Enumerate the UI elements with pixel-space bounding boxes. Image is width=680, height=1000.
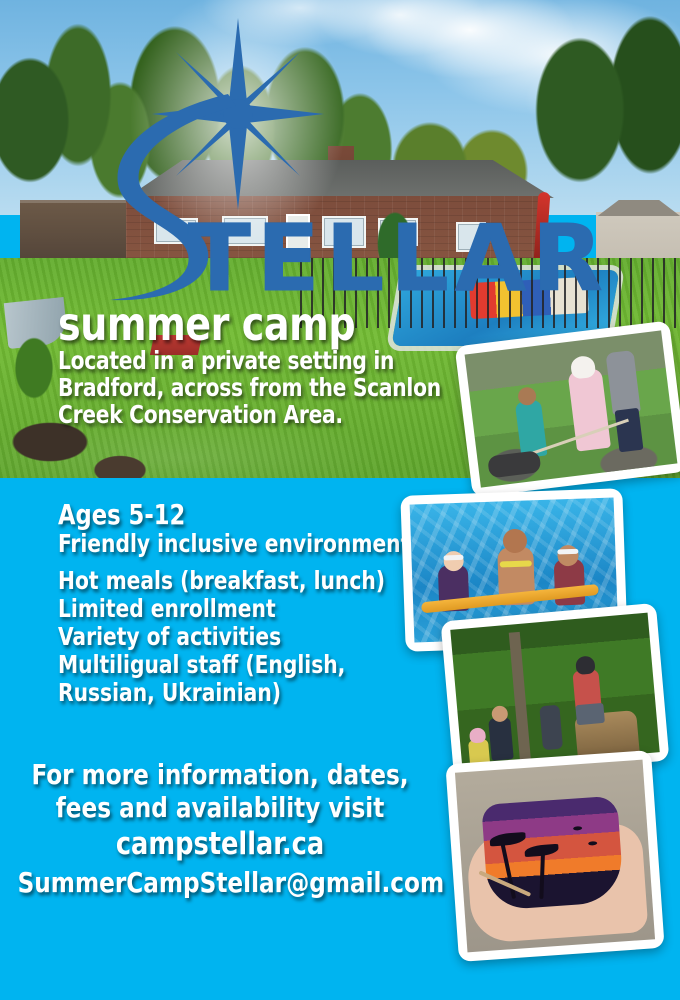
child-shorts [575,703,605,725]
child-hat [469,727,486,743]
location-line: Bradford, across from the Scanlon [58,374,490,401]
forest-photo-image [450,613,659,770]
feature-item: Limited enrollment [58,595,410,623]
child-legs [615,408,644,453]
location-line: Creek Conservation Area. [58,401,490,428]
feature-highlight: Friendly inclusive environment [58,530,410,558]
bird-silhouette [573,826,582,831]
swim-vest [500,560,532,567]
fire-pit-stones [487,450,541,478]
cta-line: fees and availability visit [18,791,423,824]
goggles-icon [443,555,463,561]
location-line: Located in a private setting in [58,347,490,374]
bird-silhouette [588,841,597,846]
campfire-photo-image [465,330,678,487]
contact-block: For more information, dates, fees and av… [0,758,440,902]
feature-item: Multiligual staff (English, [58,651,410,679]
summer-camp-flyer: TELLAR summer camp Located in a private … [0,0,680,1000]
location-description: Located in a private setting in Bradford… [58,347,490,428]
features-list: Ages 5-12 Friendly inclusive environment… [58,500,449,707]
child-figure [539,705,563,751]
painted-rock [481,796,624,911]
goggles-icon [557,549,578,555]
stellar-logo: TELLAR [0,0,680,340]
palm-trunk [539,849,545,899]
painted-rock-photo-image [455,760,655,953]
child-figure [605,350,640,415]
feature-item: Russian, Ukrainian) [58,679,410,707]
child-cap [575,655,595,675]
ages-label: Ages 5-12 [58,500,410,530]
website-link[interactable]: campstellar.ca [18,824,423,864]
wordmark-tellar: TELLAR [188,213,609,305]
email-link[interactable]: SummerCampStellar@gmail.com [18,864,423,902]
palm-fronds [489,832,526,846]
feature-item: Hot meals (breakfast, lunch) [58,567,410,595]
campfire-photo [455,320,680,497]
child-figure [488,717,514,761]
palm-fronds [524,844,559,857]
feature-item: Variety of activities [58,623,410,651]
painted-rock-photo [445,750,664,962]
page-title: summer camp [58,301,355,347]
cta-line: For more information, dates, [18,758,423,791]
